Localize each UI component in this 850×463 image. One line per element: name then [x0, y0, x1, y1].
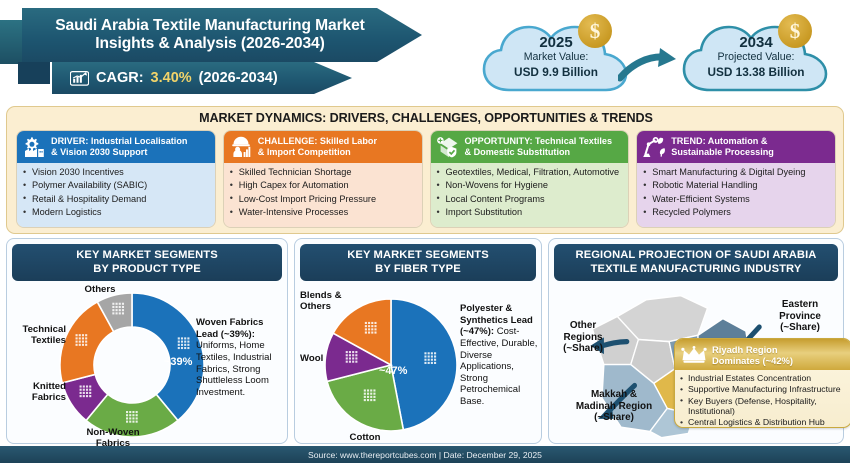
segment-label-others: Others: [65, 285, 135, 296]
cagr-value: 3.40%: [151, 70, 192, 86]
list-item: Central Logistics & Distribution Hub: [680, 417, 847, 428]
map-label-eastern-province: Eastern Province (~Share): [754, 299, 846, 333]
opportunity-list: Geotextiles, Medical, Filtration, Automo…: [437, 167, 624, 219]
challenge-card: CHALLENGE: Skilled Labor & Import Compet…: [223, 130, 423, 228]
pie-pct-label: ~47%: [379, 365, 407, 377]
driver-list: Vision 2030 Incentives Polymer Availabil…: [23, 167, 210, 219]
product-lead-bold: Woven Fabrics Lead (~39%):: [196, 317, 263, 340]
list-item: Robotic Material Handling: [643, 180, 830, 192]
list-item: Vision 2030 Incentives: [23, 167, 210, 179]
segments-panel-row: KEY MARKET SEGMENTS BY PRODUCT TYPE Othe…: [6, 238, 844, 444]
challenge-card-body: Skilled Technician Shortage High Capex f…: [224, 163, 422, 227]
segment-label-cotton: Cotton: [336, 433, 394, 444]
donut-pct-label: ~39%: [164, 356, 192, 368]
list-item: Retail & Hospitality Demand: [23, 194, 210, 206]
projected-value-badge-2034: 2034 Projected Value: USD 13.38 Billion …: [680, 16, 832, 94]
list-item: Smart Manufacturing & Digital Dyeing: [643, 167, 830, 179]
header-section: Saudi Arabia Textile Manufacturing Marke…: [0, 0, 850, 104]
opportunity-card-title: OPPORTUNITY: Technical Textiles & Domest…: [465, 136, 613, 157]
segment-label-wool: Wool: [300, 354, 334, 365]
region-title-line1: REGIONAL PROJECTION OF SAUDI ARABIA: [576, 249, 817, 261]
market-dynamics-section: MARKET DYNAMICS: DRIVERS, CHALLENGES, OP…: [6, 106, 844, 234]
market-value-badge-2025: 2025 Market Value: USD 9.9 Billion $: [480, 16, 632, 94]
driver-title-line1: DRIVER: Industrial Localisation: [51, 136, 187, 146]
product-type-panel: KEY MARKET SEGMENTS BY PRODUCT TYPE Othe…: [6, 238, 288, 444]
fiber-type-panel: KEY MARKET SEGMENTS BY FIBER TYPE Blends…: [294, 238, 542, 444]
trend-list: Smart Manufacturing & Digital Dyeing Rob…: [643, 167, 830, 219]
product-lead-text: Woven Fabrics Lead (~39%): Uniforms, Hom…: [196, 317, 282, 398]
dynamics-card-row: DRIVER: Industrial Localisation & Vision…: [16, 130, 836, 228]
title-banner: Saudi Arabia Textile Manufacturing Marke…: [22, 8, 422, 62]
challenge-card-header: CHALLENGE: Skilled Labor & Import Compet…: [224, 131, 422, 163]
trend-card: TREND: Automation & Sustainable Processi…: [636, 130, 836, 228]
challenge-title-line1: CHALLENGE: Skilled Labor: [258, 136, 377, 146]
opportunity-title-line1: OPPORTUNITY: Technical Textiles: [465, 136, 613, 146]
page-title-line1: Saudi Arabia Textile Manufacturing Marke…: [55, 17, 365, 34]
regional-panel-title: REGIONAL PROJECTION OF SAUDI ARABIA TEXT…: [554, 244, 838, 281]
list-item: Supportive Manufacturing Infrastructure: [680, 384, 847, 395]
driver-card-header: DRIVER: Industrial Localisation & Vision…: [17, 131, 215, 163]
list-item: Polymer Availability (SABIC): [23, 180, 210, 192]
cagr-label: CAGR:: [96, 70, 144, 86]
opportunity-card-header: OPPORTUNITY: Technical Textiles & Domest…: [431, 131, 629, 163]
list-item: Low-Cost Import Pricing Pressure: [230, 194, 417, 206]
product-type-panel-title: KEY MARKET SEGMENTS BY PRODUCT TYPE: [12, 244, 282, 281]
shield-plus-icon: [436, 135, 460, 159]
cagr-banner: CAGR: 3.40% (2026-2034): [52, 62, 352, 94]
list-item: Non-Wovens for Hygiene: [437, 180, 624, 192]
challenge-title-line2: & Import Competition: [258, 147, 351, 157]
regional-projection-panel: REGIONAL PROJECTION OF SAUDI ARABIA TEXT…: [548, 238, 844, 444]
infographic-root: Saudi Arabia Textile Manufacturing Marke…: [0, 0, 850, 463]
badge-year: 2034: [739, 35, 772, 52]
regional-panel-body: Eastern Province (~Share) Other Regions …: [554, 281, 838, 438]
riyadh-callout-title: Riyadh Region Dominates (~42%): [712, 344, 793, 366]
trend-title-line2: Sustainable Processing: [671, 147, 774, 157]
badge-year: 2025: [539, 35, 572, 52]
fiber-title-line2: BY FIBER TYPE: [375, 263, 461, 275]
cagr-years: (2026-2034): [199, 70, 278, 86]
market-dynamics-title: MARKET DYNAMICS: DRIVERS, CHALLENGES, OP…: [7, 111, 845, 125]
coin-symbol: $: [790, 19, 801, 44]
worker-helmet-icon: [229, 135, 253, 159]
trend-card-title: TREND: Automation & Sustainable Processi…: [671, 136, 774, 157]
product-lead-rest: Uniforms, Home Textiles, Industrial Fabr…: [196, 340, 272, 397]
opportunity-title-line2: & Domestic Substitution: [465, 147, 571, 157]
riyadh-title-line1: Riyadh Region: [712, 344, 778, 355]
list-item: Local Content Programs: [437, 194, 624, 206]
segment-label-blends-others: Blends &Others: [300, 291, 354, 313]
fiber-type-panel-title: KEY MARKET SEGMENTS BY FIBER TYPE: [300, 244, 536, 281]
dollar-coin-icon: $: [778, 14, 812, 48]
challenge-list: Skilled Technician Shortage High Capex f…: [230, 167, 417, 219]
crown-icon: [681, 346, 707, 363]
page-title-line2: Insights & Analysis (2026-2034): [95, 35, 324, 52]
opportunity-card: OPPORTUNITY: Technical Textiles & Domest…: [430, 130, 630, 228]
region-title-line2: TEXTILE MANUFACTURING INDUSTRY: [591, 263, 802, 275]
map-label-other-regions: Other Regions (~Share): [554, 320, 612, 354]
opportunity-card-body: Geotextiles, Medical, Filtration, Automo…: [431, 163, 629, 227]
driver-card: DRIVER: Industrial Localisation & Vision…: [16, 130, 216, 228]
segment-label-technical-textiles: TechnicalTextiles: [12, 325, 66, 347]
badge-label: Market Value:: [524, 51, 589, 64]
list-item: Industrial Estates Concentration: [680, 373, 847, 384]
badge-label: Projected Value:: [718, 51, 795, 64]
list-item: Geotextiles, Medical, Filtration, Automo…: [437, 167, 624, 179]
segment-label-knitted-fabrics: KnittedFabrics: [12, 382, 66, 404]
list-item: Water-Efficient Systems: [643, 194, 830, 206]
riyadh-callout-list: Industrial Estates Concentration Support…: [675, 370, 850, 428]
fiber-lead-rest: Cost-Effective, Durable, Diverse Applica…: [460, 326, 537, 406]
riyadh-callout-header: Riyadh Region Dominates (~42%): [675, 339, 850, 370]
robot-arm-leaf-icon: [642, 135, 666, 159]
driver-card-title: DRIVER: Industrial Localisation & Vision…: [51, 136, 187, 157]
badge-amount: USD 13.38 Billion: [707, 65, 804, 80]
trend-card-body: Smart Manufacturing & Digital Dyeing Rob…: [637, 163, 835, 227]
trend-title-line1: TREND: Automation &: [671, 136, 767, 146]
badge-amount: USD 9.9 Billion: [514, 65, 598, 80]
fiber-title-line1: KEY MARKET SEGMENTS: [347, 249, 489, 261]
fiber-lead-text: Polyester & Synthetics Lead (~47%): Cost…: [460, 303, 540, 407]
list-item: Skilled Technician Shortage: [230, 167, 417, 179]
driver-title-line2: & Vision 2030 Support: [51, 147, 147, 157]
product-type-panel-body: Others TechnicalTextiles KnittedFabrics …: [12, 281, 282, 438]
riyadh-callout-box: Riyadh Region Dominates (~42%) Industria…: [674, 338, 850, 428]
curved-arrow-icon: [618, 48, 680, 82]
page-title: Saudi Arabia Textile Manufacturing Marke…: [45, 17, 399, 53]
riyadh-title-line2: Dominates (~42%): [712, 355, 793, 366]
list-item: Modern Logistics: [23, 207, 210, 219]
fiber-type-panel-body: Blends &Others Wool Cotton ~47% Polyeste…: [300, 281, 536, 438]
map-label-makkah-madinah: Makkah & Madinah Region (~Share): [562, 389, 666, 423]
gear-factory-icon: [22, 135, 46, 159]
trend-card-header: TREND: Automation & Sustainable Processi…: [637, 131, 835, 163]
list-item: High Capex for Automation: [230, 180, 417, 192]
dollar-coin-icon: $: [578, 14, 612, 48]
footer-bar: Source: www.thereportcubes.com | Date: D…: [0, 446, 850, 463]
footer-source-text: Source: www.thereportcubes.com | Date: D…: [308, 450, 542, 460]
list-item: Import Substitution: [437, 207, 624, 219]
driver-card-body: Vision 2030 Incentives Polymer Availabil…: [17, 163, 215, 227]
list-item: Key Buyers (Defense, Hospitality, Instit…: [680, 396, 847, 417]
challenge-card-title: CHALLENGE: Skilled Labor & Import Compet…: [258, 136, 377, 157]
ribbon-tail-lower: [18, 62, 50, 84]
product-title-line2: BY PRODUCT TYPE: [93, 263, 201, 275]
growth-chart-icon: [70, 70, 89, 86]
coin-symbol: $: [590, 19, 601, 44]
product-title-line1: KEY MARKET SEGMENTS: [76, 249, 218, 261]
list-item: Recycled Polymers: [643, 207, 830, 219]
list-item: Water-Intensive Processes: [230, 207, 417, 219]
